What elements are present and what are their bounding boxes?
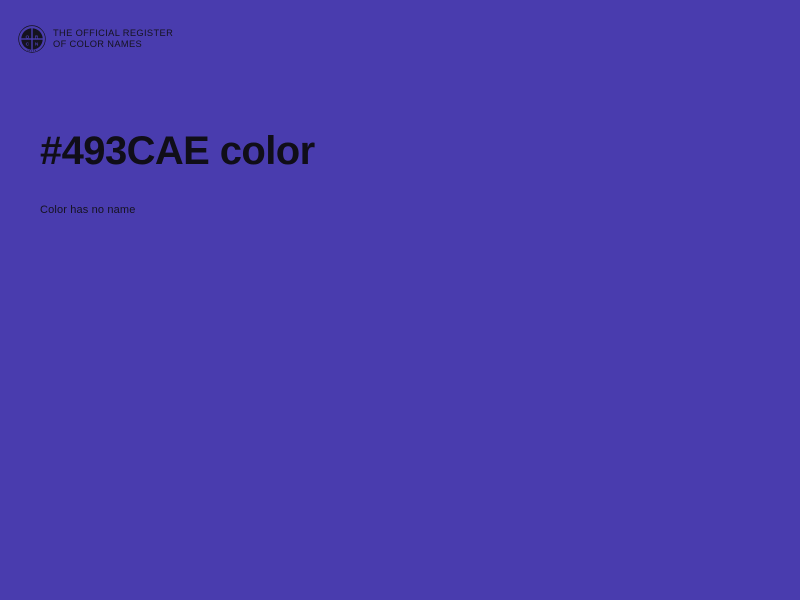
official-register-seal-icon: O R C N (18, 25, 46, 53)
brand-wordmark: THE OFFICIAL REGISTER OF COLOR NAMES (53, 28, 173, 50)
brand-lockup[interactable]: O R C N THE OFFICIAL REGISTER OF COLOR N… (18, 25, 173, 53)
brand-line-1: THE OFFICIAL REGISTER (53, 28, 173, 39)
svg-text:N: N (35, 42, 39, 48)
svg-text:R: R (35, 34, 39, 40)
color-page: O R C N THE OFFICIAL REGISTER OF COLOR N… (0, 0, 800, 600)
brand-line-2: OF COLOR NAMES (53, 39, 173, 50)
page-title: #493CAE color (40, 128, 760, 175)
color-info-block: #493CAE color Color has no name (40, 128, 760, 216)
svg-text:C: C (26, 42, 30, 48)
color-name-status: Color has no name (40, 175, 760, 216)
svg-text:O: O (26, 34, 30, 40)
